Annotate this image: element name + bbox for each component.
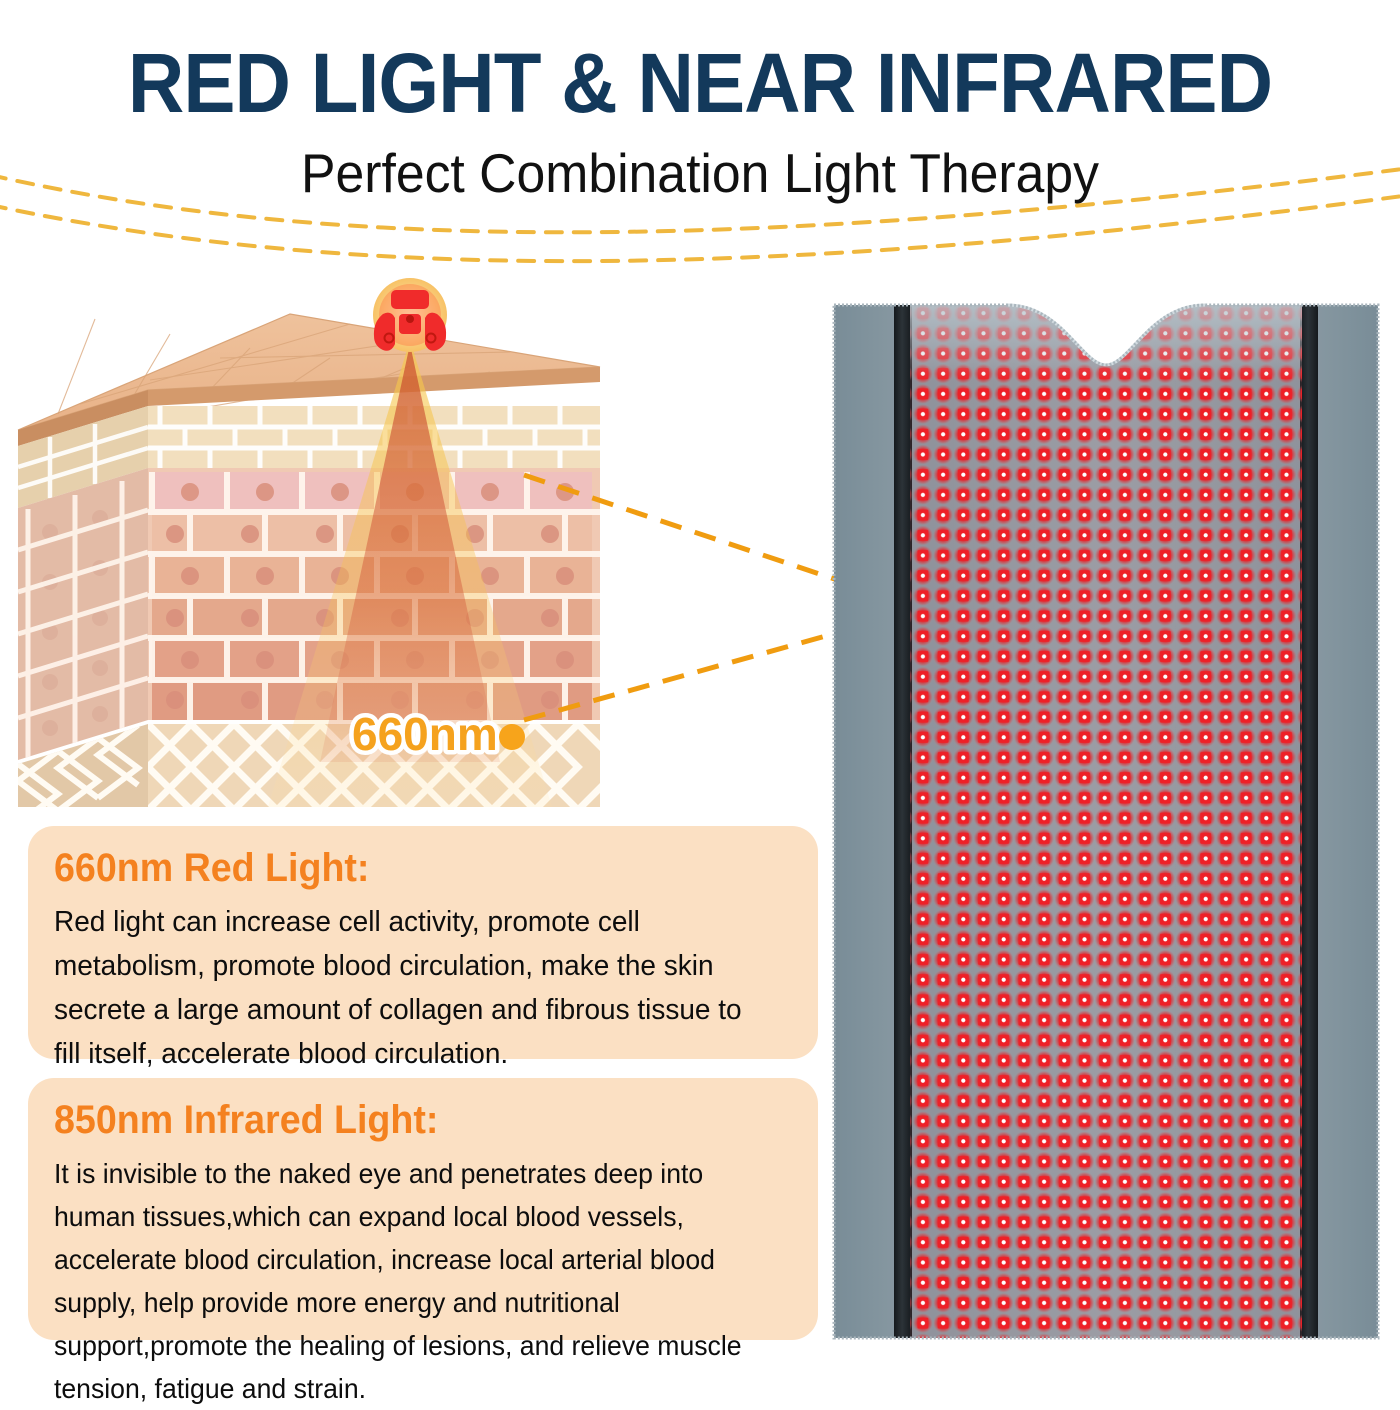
card-body-660: Red light can increase cell activity, pr… (54, 900, 766, 1076)
page-title: RED LIGHT & NEAR INFRARED (49, 38, 1351, 128)
info-card-850nm: 850nm Infrared Light: It is invisible to… (28, 1078, 818, 1340)
decorative-dashed-curves (0, 150, 1400, 270)
red-light-therapy-pad (832, 303, 1380, 1340)
card-heading-660: 660nm Red Light: (54, 844, 748, 892)
card-body-850: It is invisible to the naked eye and pen… (54, 1152, 755, 1410)
led-array (910, 303, 1302, 1340)
infographic-root: RED LIGHT & NEAR INFRARED Perfect Combin… (0, 0, 1400, 1400)
card-heading-850: 850nm Infrared Light: (54, 1096, 748, 1144)
info-card-660nm: 660nm Red Light: Red light can increase … (28, 826, 818, 1059)
